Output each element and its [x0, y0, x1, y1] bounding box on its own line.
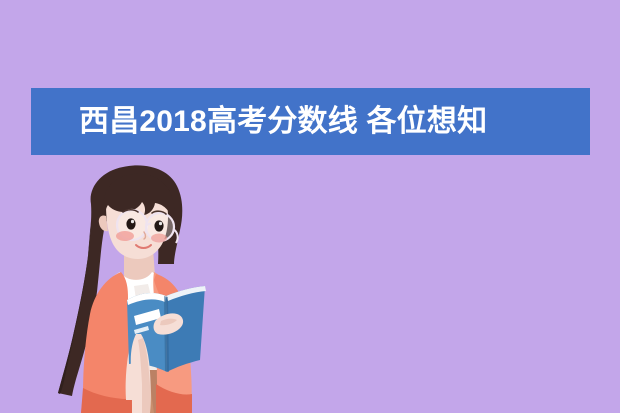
right-eye [154, 220, 163, 231]
page-title: 西昌2018高考分数线 各位想知 [79, 107, 487, 137]
left-blush [116, 231, 134, 241]
title-bar: 西昌2018高考分数线 各位想知 [31, 88, 590, 155]
left-eye [126, 218, 135, 229]
article-cover-banner: 西昌2018高考分数线 各位想知 [0, 0, 620, 413]
right-blush [151, 234, 167, 243]
woman-reading-book-illustration [28, 160, 258, 413]
